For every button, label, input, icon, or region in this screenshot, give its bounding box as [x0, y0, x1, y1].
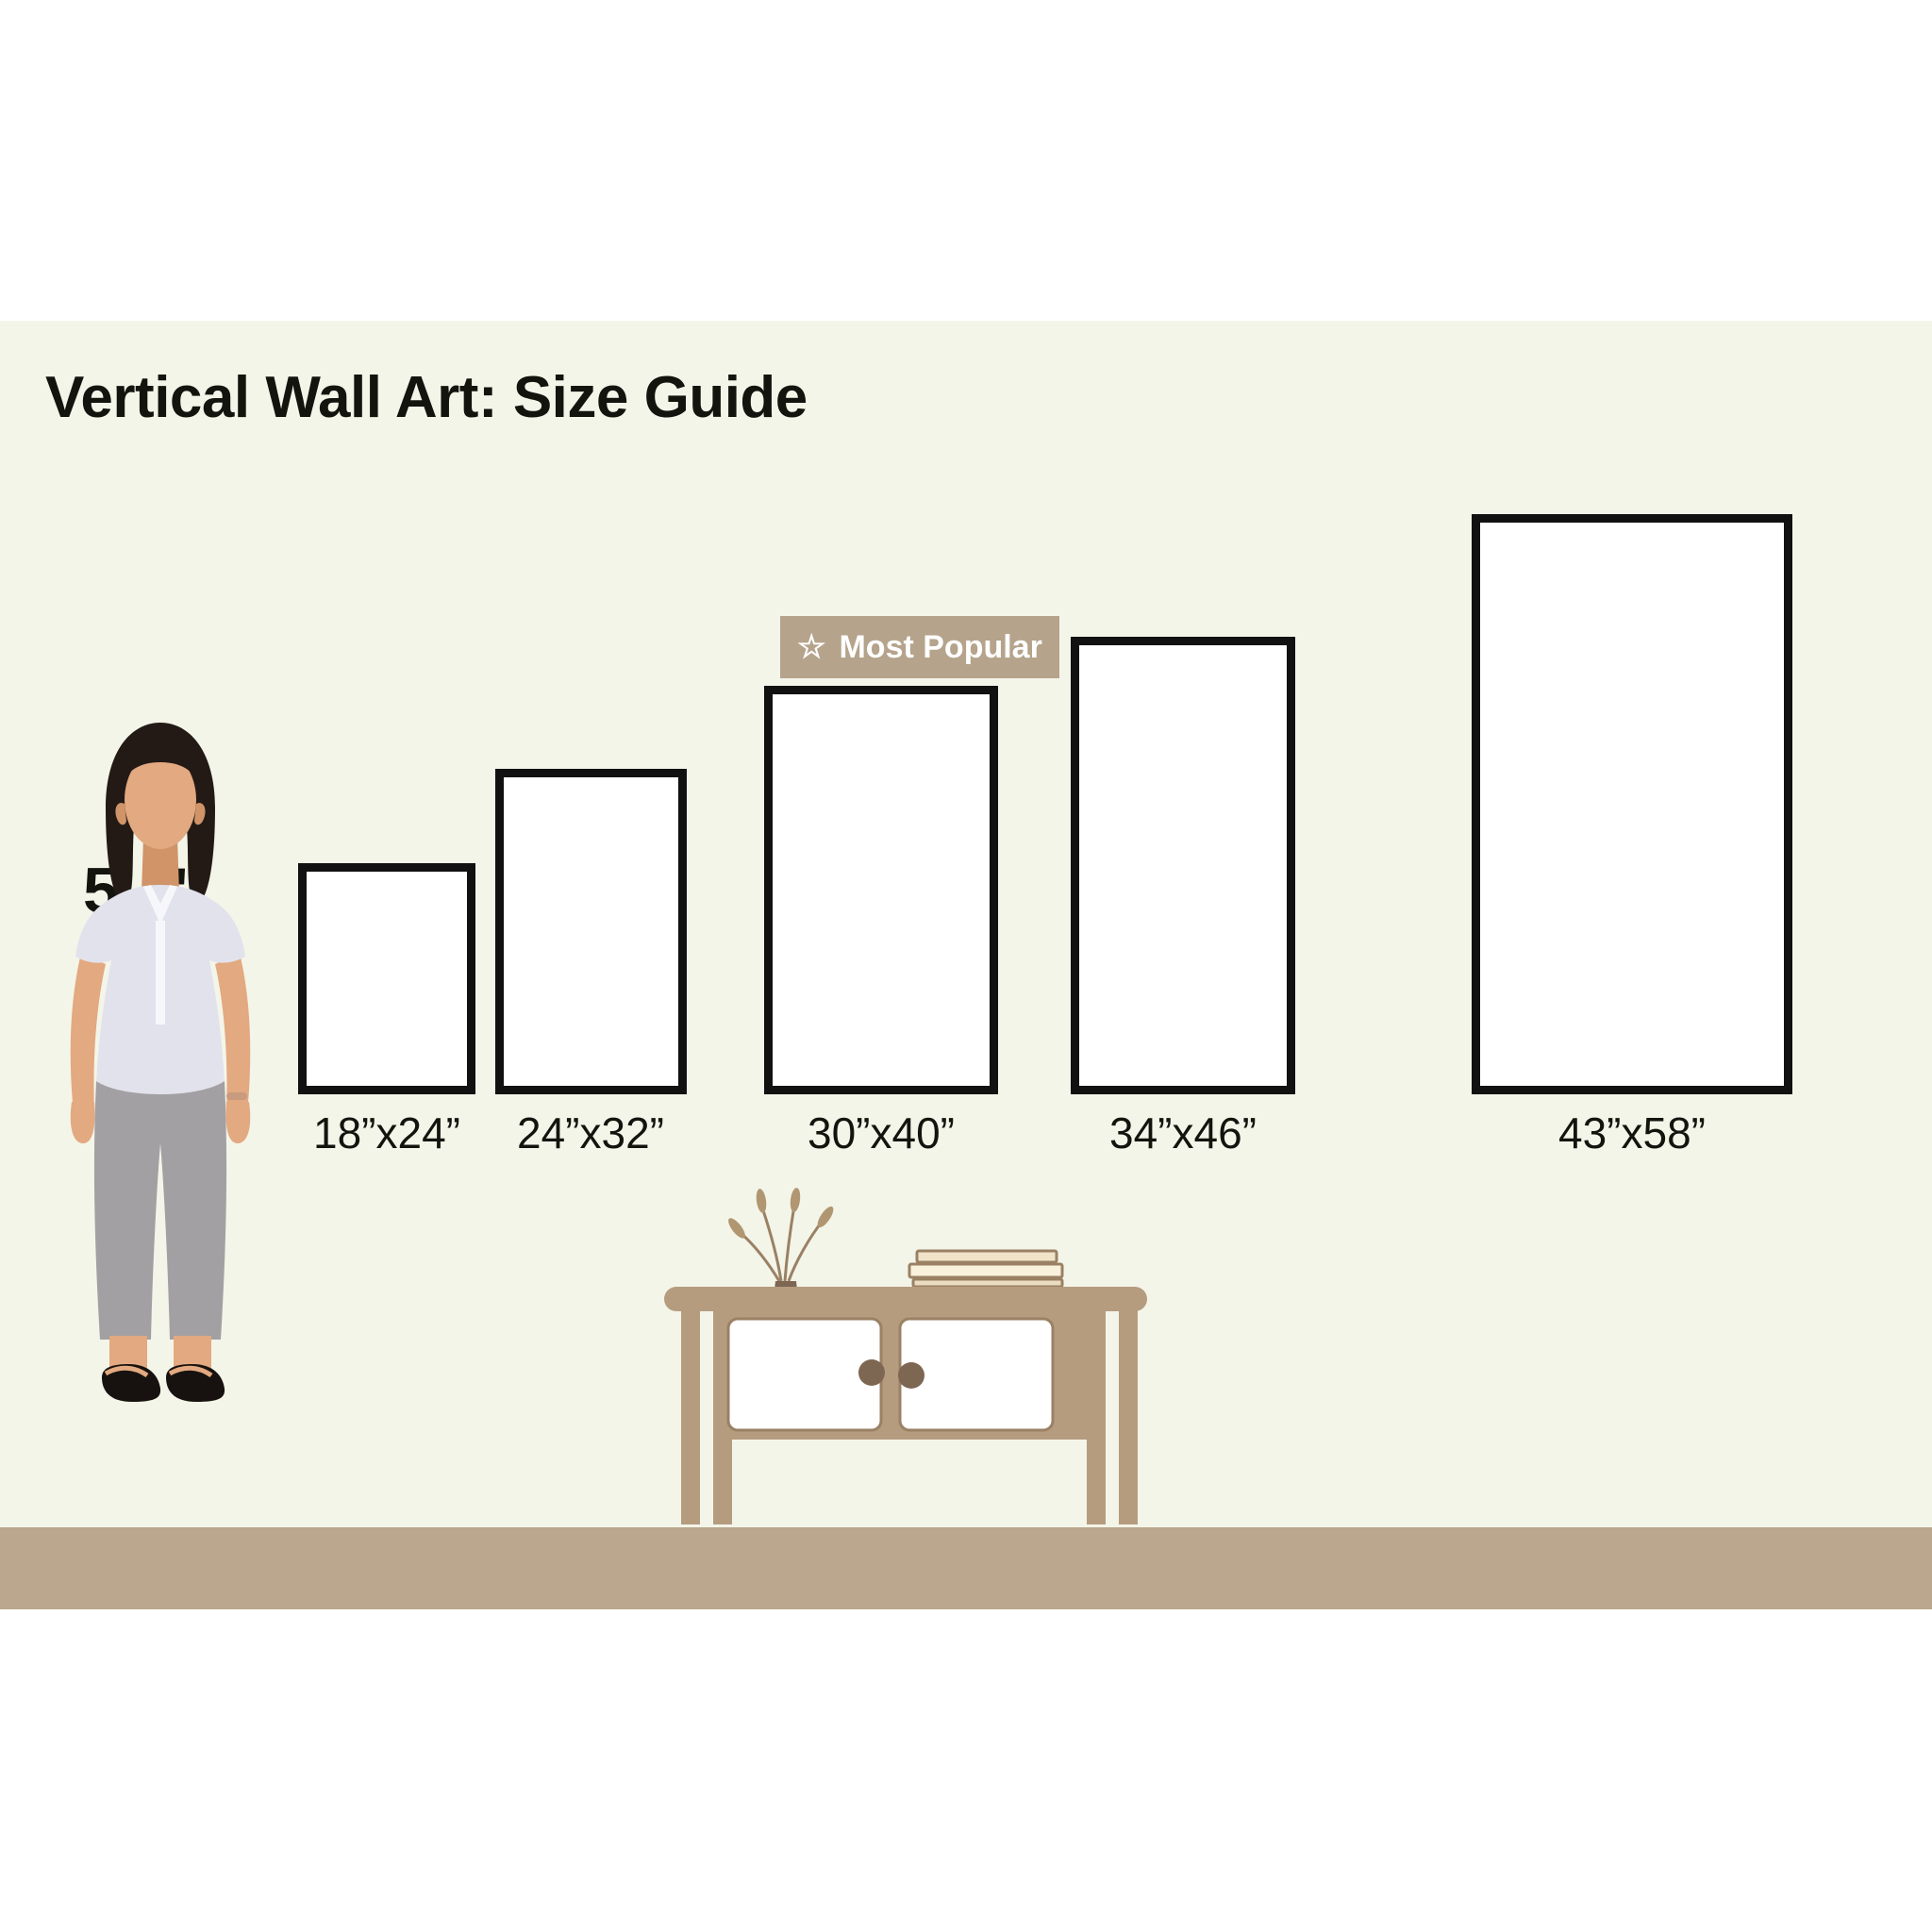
frame-label-24x32: 24”x32”	[474, 1108, 708, 1158]
placket	[156, 921, 165, 1024]
frame-label-18x24: 18”x24”	[270, 1108, 504, 1158]
page-title: Vertical Wall Art: Size Guide	[45, 364, 808, 431]
frame-34x46[interactable]	[1071, 637, 1295, 1094]
cabinet-door-left[interactable]	[728, 1319, 881, 1430]
scene-panel: Vertical Wall Art: Size Guide 5’4"	[0, 321, 1932, 1609]
most-popular-badge[interactable]: ☆ Most Popular	[780, 616, 1059, 678]
stacked-books	[909, 1251, 1062, 1287]
stem-heads	[725, 1187, 836, 1241]
hand-right	[226, 1102, 251, 1143]
table-top	[664, 1287, 1147, 1311]
door-knob-right[interactable]	[898, 1362, 924, 1389]
bracelet	[226, 1092, 247, 1100]
frame-30x40[interactable]	[764, 686, 998, 1094]
most-popular-badge-label: Most Popular	[839, 629, 1041, 666]
frame-24x32[interactable]	[495, 769, 687, 1094]
table-leg-outer-left	[681, 1309, 700, 1524]
console-table-illustration	[660, 1170, 1160, 1530]
human-figure-illustration	[57, 717, 264, 1528]
trousers	[94, 1081, 226, 1340]
size-guide-canvas: Vertical Wall Art: Size Guide 5’4"	[0, 0, 1932, 1932]
star-outline-icon: ☆	[797, 631, 825, 663]
human-figure	[57, 717, 264, 1528]
console-table	[660, 1170, 1160, 1530]
hand-left	[71, 1102, 95, 1143]
floor-band	[0, 1527, 1932, 1609]
dried-stems	[740, 1206, 823, 1281]
door-knob-left[interactable]	[858, 1359, 885, 1386]
table-leg-outer-right	[1119, 1309, 1138, 1524]
frame-43x58[interactable]	[1472, 514, 1792, 1094]
frame-label-43x58: 43”x58”	[1515, 1108, 1749, 1158]
frame-label-30x40: 30”x40”	[764, 1108, 998, 1158]
frame-18x24[interactable]	[298, 863, 475, 1094]
frame-label-34x46: 34”x46”	[1066, 1108, 1300, 1158]
